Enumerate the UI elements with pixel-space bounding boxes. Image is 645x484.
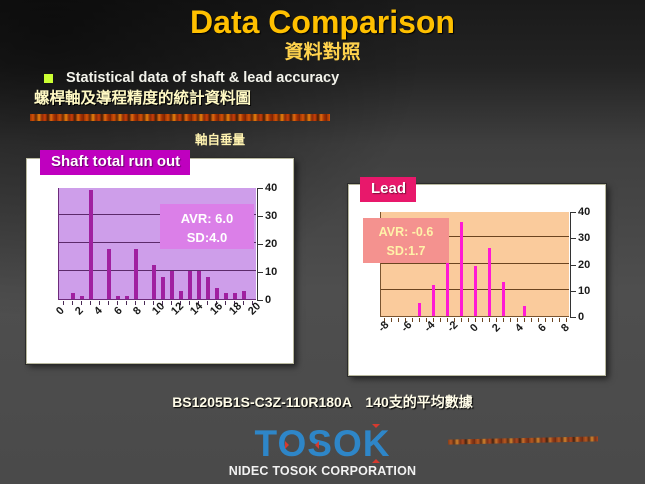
x-axis-tick <box>566 318 567 322</box>
decorative-band-top <box>30 114 330 121</box>
x-axis-tick <box>489 318 490 322</box>
x-axis-tick <box>559 318 560 322</box>
bar <box>152 265 156 299</box>
logo-accent-triangle-icon <box>285 441 289 449</box>
y-axis-tick <box>258 244 263 245</box>
x-axis-tick <box>207 301 208 305</box>
bar <box>460 222 463 317</box>
y-axis-tick-label: 0 <box>578 312 584 323</box>
y-axis-tick <box>571 265 576 266</box>
x-axis-tick <box>126 301 127 305</box>
bar <box>224 293 228 299</box>
y-axis-tick-label: 20 <box>578 260 590 271</box>
x-axis-tick <box>419 318 420 322</box>
stat-sd-shaft: SD:4.0 <box>160 228 254 247</box>
x-axis-tick <box>552 318 553 322</box>
x-axis-tick <box>433 318 434 322</box>
bar <box>488 248 491 316</box>
bullet-square-icon <box>44 74 53 83</box>
x-axis-tick <box>440 318 441 322</box>
chart-axis-note: 軸自垂量 <box>195 129 245 148</box>
page-title: Data Comparison <box>0 4 645 40</box>
y-axis-tick-label: 20 <box>265 239 277 250</box>
x-axis-tick <box>398 318 399 322</box>
bar <box>206 277 210 299</box>
stat-box-lead: AVR: -0.6 SD:1.7 <box>363 218 449 263</box>
x-axis-tick <box>99 301 100 305</box>
x-axis-tick <box>531 318 532 322</box>
x-axis-tick <box>243 301 244 305</box>
y-axis-tick <box>258 272 263 273</box>
logo-accent-triangle-icon <box>372 459 380 463</box>
tosok-logo-text: TOSOK <box>255 424 391 464</box>
bar <box>161 277 165 299</box>
x-axis-tick <box>391 318 392 322</box>
stat-sd-lead: SD:1.7 <box>363 242 449 261</box>
bar <box>474 266 477 316</box>
page-subtitle: 資料對照 <box>0 42 645 64</box>
bar <box>242 291 246 299</box>
y-axis-tick <box>571 317 576 318</box>
y-axis-tick-label: 10 <box>578 286 590 297</box>
subtitle-cjk-line: 螺桿軸及導程精度的統計資料圖 <box>34 90 251 108</box>
bar <box>215 288 219 299</box>
x-axis-tick <box>545 318 546 322</box>
bar <box>116 296 120 299</box>
x-axis-tick <box>503 318 504 322</box>
bar <box>107 249 111 299</box>
slide-canvas: Data Comparison 資料對照 Statistical data of… <box>0 0 645 484</box>
x-axis-tick <box>475 318 476 322</box>
bar <box>89 190 93 299</box>
logo-block: TOSOK <box>0 424 645 464</box>
bar <box>523 306 526 317</box>
x-axis-tick <box>81 301 82 305</box>
stat-avr-lead: AVR: -0.6 <box>363 223 449 242</box>
logo-accent-triangle-icon <box>372 424 380 428</box>
x-axis-tick <box>144 301 145 305</box>
bar <box>502 282 505 316</box>
bar <box>71 293 75 299</box>
x-axis-tick <box>496 318 497 322</box>
y-axis-tick-label: 30 <box>578 233 590 244</box>
logo-subtitle: NIDEC TOSOK CORPORATION <box>0 464 645 478</box>
y-axis-tick-label: 40 <box>578 207 590 218</box>
x-axis-tick <box>510 318 511 322</box>
y-axis-tick <box>571 212 576 213</box>
bar <box>80 296 84 299</box>
y-axis-tick <box>571 238 576 239</box>
y-axis-tick-label: 10 <box>265 267 277 278</box>
x-axis-tick <box>225 301 226 305</box>
x-axis-tick <box>468 318 469 322</box>
bar <box>197 271 201 299</box>
x-axis-tick <box>90 301 91 305</box>
bar <box>188 271 192 299</box>
x-axis-tick <box>524 318 525 322</box>
bar <box>179 291 183 299</box>
y-axis-tick <box>258 300 263 301</box>
x-axis-tick <box>117 301 118 305</box>
x-axis-tick <box>461 318 462 322</box>
x-axis-tick <box>189 301 190 305</box>
stat-box-shaft: AVR: 6.0 SD:4.0 <box>160 204 254 249</box>
y-axis-tick-label: 30 <box>265 211 277 222</box>
bar <box>233 293 237 299</box>
x-axis-tick <box>108 301 109 305</box>
chart-title-shaft: Shaft total run out <box>40 150 190 175</box>
bar <box>432 285 435 317</box>
y-axis-tick-label: 0 <box>265 295 271 306</box>
y-axis-tick-label: 40 <box>265 183 277 194</box>
x-axis-tick <box>72 301 73 305</box>
bar <box>134 249 138 299</box>
x-axis-tick <box>412 318 413 322</box>
bar <box>418 303 421 316</box>
bullet-row: Statistical data of shaft & lead accurac… <box>44 70 604 86</box>
chart-title-lead: Lead <box>360 177 416 202</box>
x-axis-tick <box>482 318 483 322</box>
y-axis-tick <box>258 188 263 189</box>
x-axis-tick <box>63 301 64 305</box>
y-axis-tick <box>571 291 576 292</box>
stat-avr-shaft: AVR: 6.0 <box>160 209 254 228</box>
bar <box>125 296 129 299</box>
bullet-label: Statistical data of shaft & lead accurac… <box>66 70 339 86</box>
logo-accent-triangle-icon <box>315 441 319 449</box>
y-axis-tick <box>258 216 263 217</box>
slide-caption: BS1205B1S-C3Z-110R180A 140支的平均數據 <box>0 392 645 412</box>
bar <box>170 271 174 299</box>
